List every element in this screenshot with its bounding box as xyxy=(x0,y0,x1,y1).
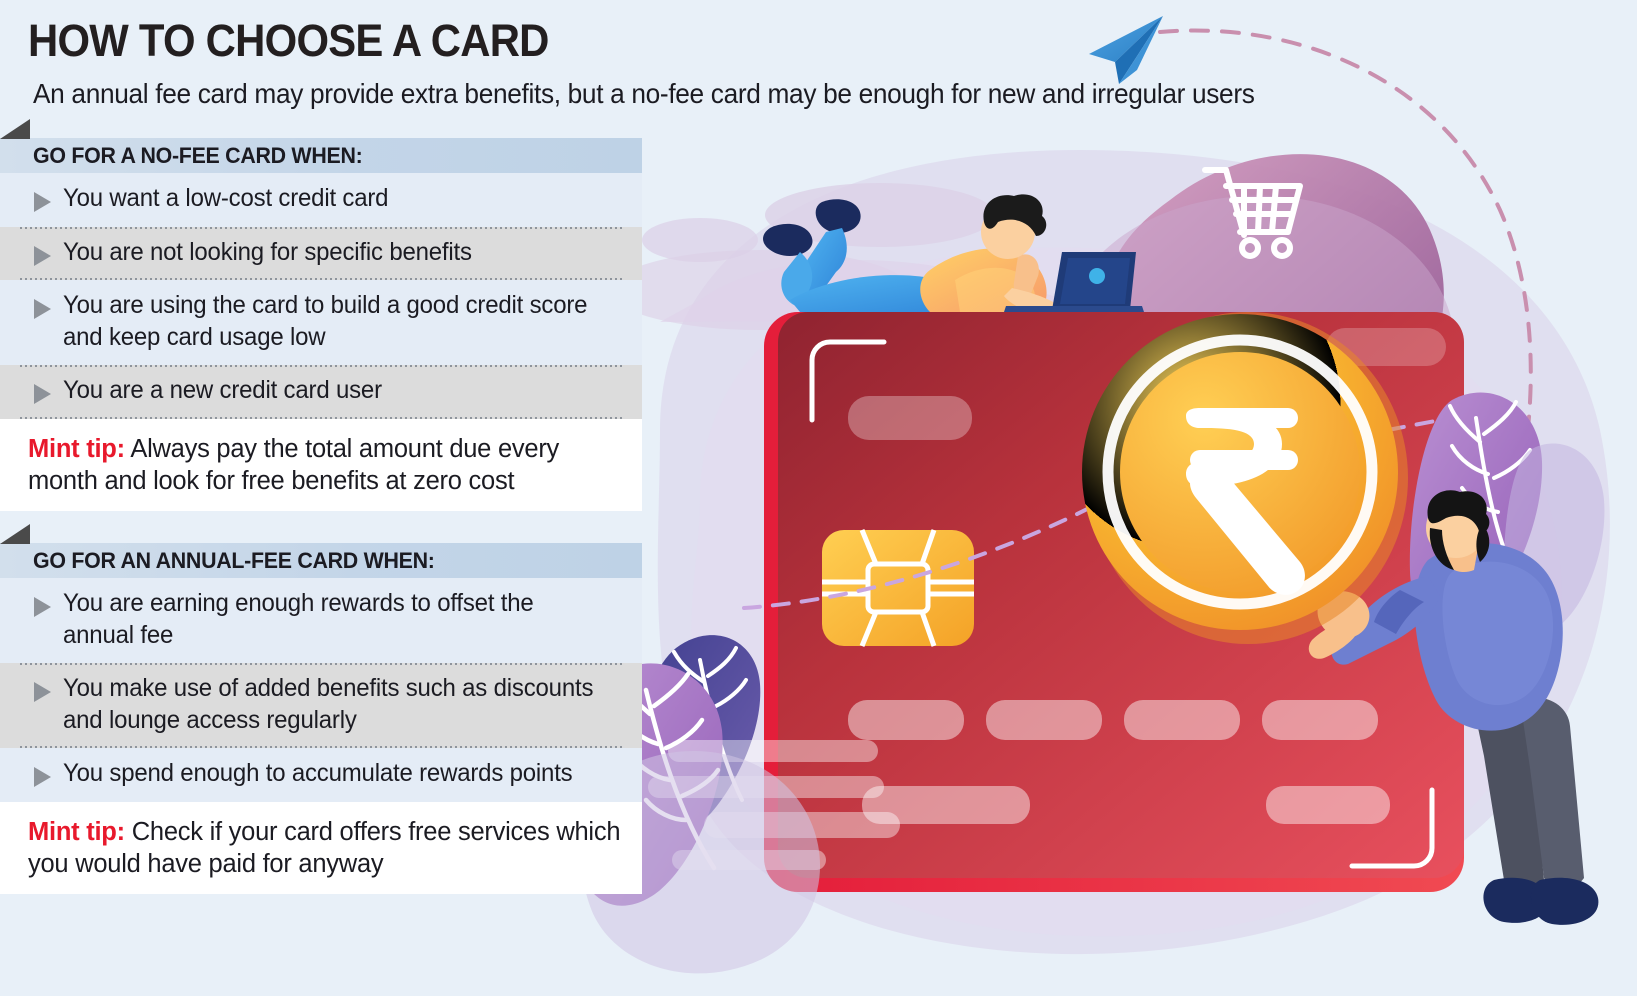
list-item-text: You make use of added benefits such as d… xyxy=(63,673,607,736)
list-item-text: You spend enough to accumulate rewards p… xyxy=(63,758,573,790)
bullet-arrow-icon xyxy=(34,384,51,404)
bullet-arrow-icon xyxy=(34,246,51,266)
bullet-arrow-icon xyxy=(34,682,51,702)
corner-triangle-icon xyxy=(0,119,30,139)
section-heading-label: GO FOR A NO-FEE CARD WHEN: xyxy=(33,143,362,169)
corner-triangle-icon xyxy=(0,524,30,544)
bullet-arrow-icon xyxy=(34,299,51,319)
bullet-arrow-icon xyxy=(34,597,51,617)
page-subtitle: An annual fee card may provide extra ben… xyxy=(33,78,1255,110)
bullet-arrow-icon xyxy=(34,192,51,212)
list-item-text: You want a low-cost credit card xyxy=(63,183,388,215)
mint-tip-label: Mint tip: xyxy=(28,818,125,846)
list-item[interactable]: You are a new credit card user xyxy=(0,365,642,419)
list-item[interactable]: You make use of added benefits such as d… xyxy=(0,663,642,748)
section-annual-fee: GO FOR AN ANNUAL-FEE CARD WHEN: You are … xyxy=(0,543,642,894)
list-item-text: You are earning enough rewards to offset… xyxy=(63,588,607,651)
text-content: HOW TO CHOOSE A CARD An annual fee card … xyxy=(0,0,1637,996)
list-item[interactable]: You are earning enough rewards to offset… xyxy=(0,578,642,663)
list-item[interactable]: You are not looking for specific benefit… xyxy=(0,227,642,281)
list-item[interactable]: You want a low-cost credit card xyxy=(0,173,642,227)
mint-tip-label: Mint tip: xyxy=(28,435,125,463)
infographic-canvas: HOW TO CHOOSE A CARD An annual fee card … xyxy=(0,0,1637,996)
list-item-text: You are using the card to build a good c… xyxy=(63,290,607,353)
list-item[interactable]: You spend enough to accumulate rewards p… xyxy=(0,748,642,802)
page-title: HOW TO CHOOSE A CARD xyxy=(28,15,549,67)
section-heading-label: GO FOR AN ANNUAL-FEE CARD WHEN: xyxy=(33,548,435,574)
list-item[interactable]: You are using the card to build a good c… xyxy=(0,280,642,365)
section-header-no-fee: GO FOR A NO-FEE CARD WHEN: xyxy=(0,138,642,173)
section-no-fee: GO FOR A NO-FEE CARD WHEN: You want a lo… xyxy=(0,138,642,511)
section-items-no-fee: You want a low-cost credit card You are … xyxy=(0,173,642,419)
section-header-annual-fee: GO FOR AN ANNUAL-FEE CARD WHEN: xyxy=(0,543,642,578)
list-item-text: You are not looking for specific benefit… xyxy=(63,237,472,269)
bullet-arrow-icon xyxy=(34,767,51,787)
mint-tip-no-fee: Mint tip: Always pay the total amount du… xyxy=(0,419,642,512)
mint-tip-annual-fee: Mint tip: Check if your card offers free… xyxy=(0,802,642,895)
list-item-text: You are a new credit card user xyxy=(63,375,382,407)
section-items-annual-fee: You are earning enough rewards to offset… xyxy=(0,578,642,802)
